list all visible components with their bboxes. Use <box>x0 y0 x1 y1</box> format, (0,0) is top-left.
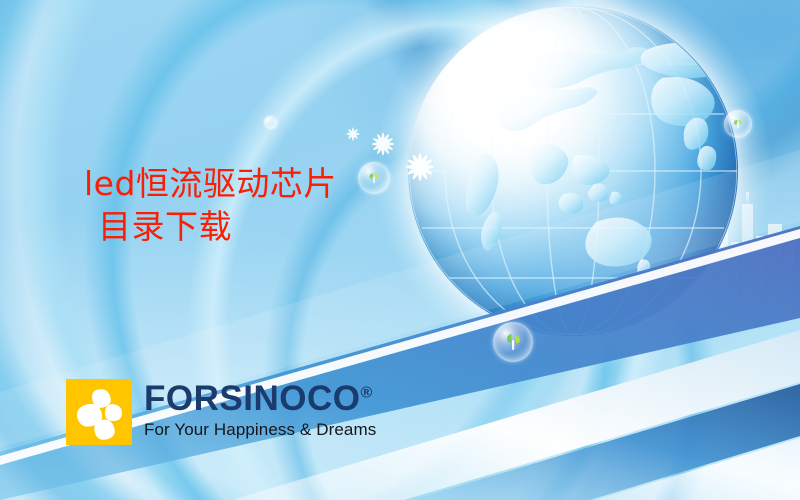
headline: led恒流驱动芯片 目录下载 <box>84 163 504 249</box>
pinwheel-icon <box>501 330 525 354</box>
logo-tagline: For Your Happiness & Dreams <box>144 421 376 438</box>
sparkle-flower-3-icon <box>345 126 361 147</box>
four-petal-pinwheel-icon <box>66 379 132 445</box>
sparkle-flower-1-icon <box>370 131 396 162</box>
pinwheel-icon <box>730 116 746 132</box>
company-logo[interactable]: FORSINOCO® For Your Happiness & Dreams <box>66 379 376 445</box>
logo-text-block: FORSINOCO® For Your Happiness & Dreams <box>144 379 376 438</box>
logo-wordmark: FORSINOCO® <box>144 381 376 416</box>
bubble-pinwheel-2 <box>493 322 533 362</box>
headline-line-2: 目录下载 <box>84 206 504 249</box>
headline-line-1: led恒流驱动芯片 <box>84 163 504 206</box>
bubble-small-4 <box>264 116 277 129</box>
promo-banner: led恒流驱动芯片 目录下载 FORSINOCO® For Your Happi… <box>0 0 800 500</box>
logo-wordmark-text: FORSINOCO <box>144 379 360 418</box>
bubble-pinwheel-3 <box>724 110 752 138</box>
registered-trademark-icon: ® <box>360 384 372 401</box>
